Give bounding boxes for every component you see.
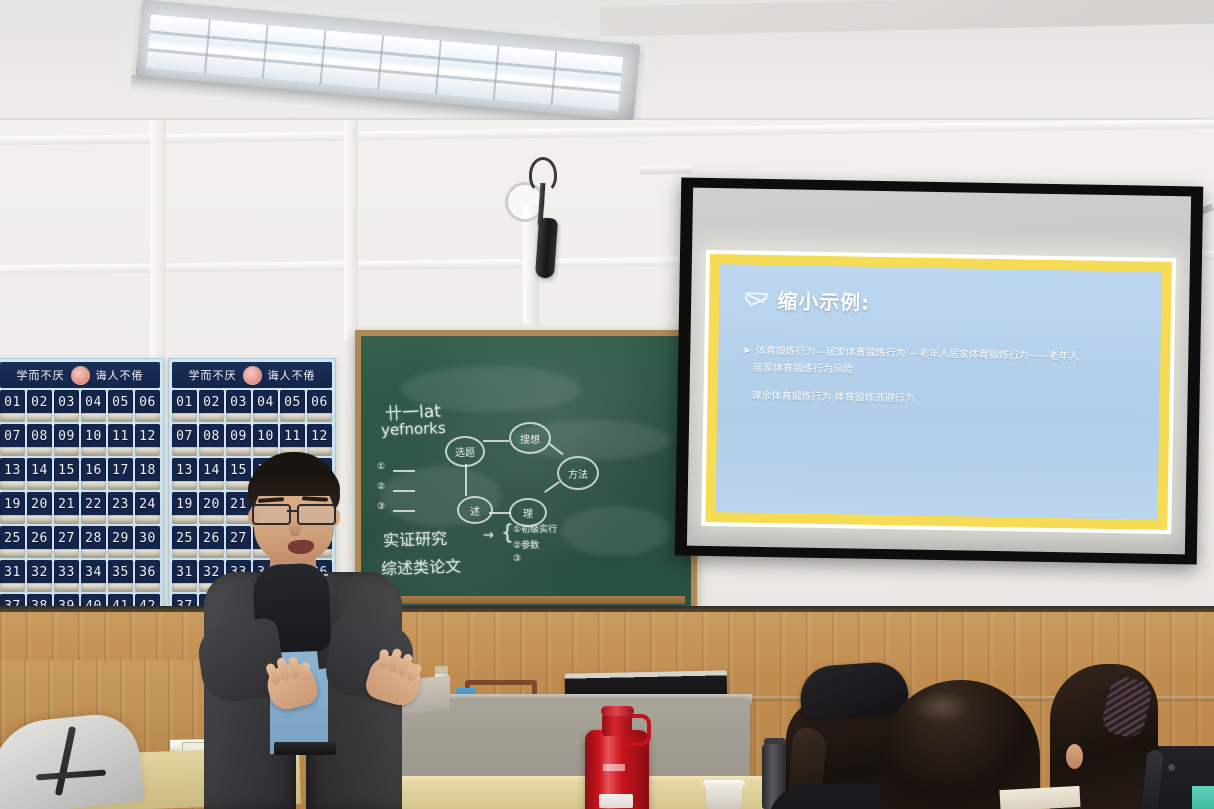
slide-bullet-1: ➤ 体育锻炼行为—居家体育锻炼行为 —老年人居家体育锻炼行为——老年人 居家体育… — [742, 344, 1143, 384]
wall-pilaster — [344, 120, 358, 340]
chalk-subitem-1: ①初级实行 — [513, 522, 557, 535]
wall-pilaster — [150, 120, 166, 360]
nose — [289, 520, 301, 536]
school-seal-icon — [243, 366, 262, 385]
key-pocket[interactable]: 06 — [135, 390, 160, 422]
pocket-number: 16 — [85, 463, 102, 478]
key-pocket[interactable]: 09 — [54, 424, 79, 456]
pocket-number: 07 — [176, 429, 193, 444]
hair-highlight — [910, 690, 972, 724]
key-pocket[interactable]: 07 — [0, 424, 25, 456]
pocket-number: 10 — [85, 429, 102, 444]
pocket-number: 28 — [85, 531, 102, 546]
paper-cup[interactable] — [706, 784, 742, 809]
key-pocket[interactable]: 26 — [27, 526, 52, 558]
key-pocket[interactable]: 23 — [108, 492, 133, 524]
pocket-number: 05 — [284, 395, 301, 410]
banner-motto-left: 学而不厌 — [189, 367, 237, 383]
pocket-number: 25 — [176, 531, 193, 546]
chalk-node-2: 搜想 — [509, 422, 551, 454]
key-pocket[interactable]: 18 — [135, 458, 160, 490]
pocket-number: 12 — [139, 429, 156, 444]
key-pocket[interactable]: 32 — [27, 560, 52, 592]
key-pocket[interactable]: 05 — [280, 390, 305, 422]
pocket-number: 19 — [176, 497, 193, 512]
pocket-number: 32 — [31, 565, 48, 580]
chalk-subitem-3: ③ — [513, 554, 521, 564]
projection-screen-surface: 缩小示例: ➤ 体育锻炼行为—居家体育锻炼行为 —老年人居家体育锻炼行为——老年… — [687, 188, 1191, 555]
pocket-number: 08 — [203, 429, 220, 444]
key-pocket[interactable]: 07 — [172, 424, 197, 456]
pocket-number: 36 — [139, 565, 156, 580]
slide-bullet-1-line-2: 居家体育锻炼行为风险 — [753, 360, 853, 378]
key-pocket[interactable]: 31 — [0, 560, 25, 592]
key-pocket[interactable]: 13 — [0, 458, 25, 490]
pocket-number: 25 — [4, 531, 21, 546]
key-pocket[interactable]: 05 — [108, 390, 133, 422]
green-scarf — [1192, 786, 1214, 809]
slide-title-row: 缩小示例: — [745, 285, 1143, 321]
key-pocket[interactable]: 06 — [307, 390, 332, 422]
pocket-number: 05 — [112, 395, 129, 410]
key-pocket[interactable]: 28 — [81, 526, 106, 558]
pocket-number: 29 — [112, 531, 129, 546]
slide-content: 缩小示例: ➤ 体育锻炼行为—居家体育锻炼行为 —老年人居家体育锻炼行为——老年… — [716, 264, 1162, 520]
key-pocket[interactable]: 27 — [54, 526, 79, 558]
pocket-number: 21 — [58, 497, 75, 512]
board-banner: 学而不厌 诲人不倦 — [172, 362, 332, 388]
slide-footnote — [797, 550, 1097, 555]
pocket-number: 35 — [112, 565, 129, 580]
pocket-number: 02 — [31, 395, 48, 410]
key-pocket[interactable]: 25 — [172, 526, 197, 558]
key-pocket[interactable]: 34 — [81, 560, 106, 592]
banner-motto-left: 学而不厌 — [17, 367, 65, 383]
key-pocket[interactable]: 21 — [54, 492, 79, 524]
pocket-number: 01 — [4, 395, 21, 410]
chalk-brace: { — [501, 520, 514, 544]
thermos-label — [599, 794, 633, 808]
chalk-arrow: → — [483, 528, 494, 543]
thermos-cap — [601, 706, 634, 716]
pocket-number: 22 — [85, 497, 102, 512]
banner-motto-right: 诲人不倦 — [268, 367, 316, 383]
wall-conduit — [640, 165, 692, 175]
key-pocket[interactable]: 36 — [135, 560, 160, 592]
key-pocket[interactable]: 04 — [253, 390, 278, 422]
pocket-number: 13 — [176, 463, 193, 478]
pocket-number: 34 — [85, 565, 102, 580]
pocket-number: 15 — [58, 463, 75, 478]
school-seal-icon — [71, 366, 90, 385]
chalk-node-1: 选题 — [445, 436, 485, 467]
key-pocket[interactable]: 12 — [135, 424, 160, 456]
key-pocket[interactable]: 11 — [108, 424, 133, 456]
projected-slide: 缩小示例: ➤ 体育锻炼行为—居家体育锻炼行为 —老年人居家体育锻炼行为——老年… — [701, 250, 1176, 534]
eyeglasses — [250, 504, 340, 521]
pocket-number: 09 — [58, 429, 75, 444]
pocket-number: 31 — [176, 565, 193, 580]
pocket-number: 24 — [139, 497, 156, 512]
key-pocket[interactable]: 03 — [54, 390, 79, 422]
key-pocket[interactable]: 03 — [226, 390, 251, 422]
slide-border: 缩小示例: ➤ 体育锻炼行为—居家体育锻炼行为 —老年人居家体育锻炼行为——老年… — [705, 254, 1172, 530]
key-pocket[interactable]: 29 — [108, 526, 133, 558]
key-pocket[interactable]: 02 — [199, 390, 224, 422]
key-pocket[interactable]: 01 — [0, 390, 25, 422]
pocket-number: 33 — [58, 565, 75, 580]
chalk-heading-2: yefnorks — [381, 419, 446, 439]
pocket-number: 01 — [176, 395, 193, 410]
key-pocket[interactable]: 13 — [172, 458, 197, 490]
bullet-arrow-icon: ➤ — [742, 344, 751, 361]
lecturer — [196, 452, 428, 809]
thermos-handle — [627, 714, 651, 746]
pocket-number: 18 — [139, 463, 156, 478]
hair-fringe — [248, 468, 340, 496]
pocket-number: 11 — [284, 429, 301, 444]
pocket-number: 12 — [311, 429, 328, 444]
key-pocket[interactable]: 02 — [27, 390, 52, 422]
pocket-number: 06 — [139, 395, 156, 410]
board-banner: 学而不厌 诲人不倦 — [0, 362, 160, 388]
pocket-number: 17 — [112, 463, 129, 478]
pocket-number: 04 — [257, 395, 274, 410]
key-pocket[interactable]: 15 — [54, 458, 79, 490]
pocket-number: 19 — [4, 497, 21, 512]
pocket-number: 06 — [311, 395, 328, 410]
chalk-node-4: 述 — [457, 496, 493, 524]
key-pocket[interactable]: 10 — [81, 424, 106, 456]
lens-right — [297, 504, 336, 525]
bottle-cap — [435, 666, 448, 674]
pocket-number: 27 — [58, 531, 75, 546]
pocket-number: 20 — [31, 497, 48, 512]
key-pocket[interactable]: 35 — [108, 560, 133, 592]
glasses-bridge — [287, 510, 297, 512]
flag-check-icon — [745, 292, 768, 307]
key-pocket[interactable]: 17 — [108, 458, 133, 490]
banner-motto-right: 诲人不倦 — [96, 367, 144, 383]
chalk-subitem-2: ②参数 — [513, 538, 539, 551]
paper-sheet[interactable] — [1000, 786, 1081, 809]
ear — [1066, 744, 1083, 769]
thermos-logo — [603, 764, 625, 771]
pocket-number: 10 — [257, 429, 274, 444]
belt — [274, 742, 336, 755]
key-pocket[interactable]: 04 — [81, 390, 106, 422]
pocket-number: 07 — [4, 429, 21, 444]
key-pocket[interactable]: 20 — [27, 492, 52, 524]
pocket-number: 04 — [85, 395, 102, 410]
key-pocket[interactable]: 33 — [54, 560, 79, 592]
pocket-number: 11 — [112, 429, 129, 444]
key-pocket[interactable]: 22 — [81, 492, 106, 524]
key-pocket[interactable]: 30 — [135, 526, 160, 558]
key-pocket[interactable]: 31 — [172, 560, 197, 592]
pocket-number: 02 — [203, 395, 220, 410]
key-pocket[interactable]: 14 — [27, 458, 52, 490]
slide-bullet-2-row: 课余体育锻炼行为 体育锻炼逃避行为 — [751, 389, 1141, 412]
coat-button — [1168, 764, 1175, 771]
pocket-number: 03 — [230, 395, 247, 410]
pocket-number: 09 — [230, 429, 247, 444]
key-pocket[interactable]: 01 — [172, 390, 197, 422]
pocket-number: 23 — [112, 497, 129, 512]
slide-title: 缩小示例: — [777, 285, 870, 316]
pocket-number: 13 — [4, 463, 21, 478]
key-pocket[interactable]: 24 — [135, 492, 160, 524]
key-pocket[interactable]: 19 — [172, 492, 197, 524]
key-pocket[interactable]: 19 — [0, 492, 25, 524]
key-pocket[interactable]: 25 — [0, 526, 25, 558]
key-pocket[interactable]: 16 — [81, 458, 106, 490]
lens-left — [252, 504, 291, 525]
pocket-number: 31 — [4, 565, 21, 580]
classroom-scene: 学而不厌 诲人不倦 010203040506070809101112131415… — [0, 0, 1214, 809]
projection-screen-frame: 缩小示例: ➤ 体育锻炼行为—居家体育锻炼行为 —老年人居家体育锻炼行为——老年… — [675, 177, 1204, 564]
key-pocket[interactable]: 08 — [27, 424, 52, 456]
pocket-number: 26 — [31, 531, 48, 546]
slide-bullet-2: 课余体育锻炼行为 体育锻炼逃避行为 — [751, 389, 914, 408]
red-thermos[interactable] — [585, 706, 649, 809]
chalk-node-3: 方法 — [557, 456, 599, 490]
pocket-number: 08 — [31, 429, 48, 444]
pocket-number: 03 — [58, 395, 75, 410]
pocket-number: 14 — [31, 463, 48, 478]
pocket-number: 30 — [139, 531, 156, 546]
